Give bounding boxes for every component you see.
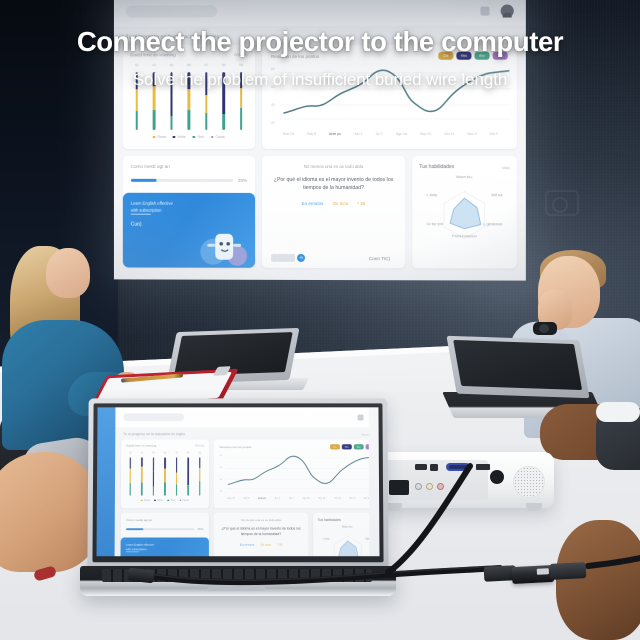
x-tick-label: Nov 3 — [467, 132, 476, 136]
legend-label: Read — [157, 135, 166, 139]
bar-value-label: 58 — [187, 63, 191, 67]
legend-color-dot — [153, 136, 156, 139]
bar-segment — [205, 113, 208, 130]
avatar[interactable] — [501, 4, 514, 17]
scene: Tu ui progreso en la educacion en ingles… — [0, 0, 640, 640]
x-tick-label: Dic 9 — [490, 132, 498, 136]
progress-bar — [131, 179, 233, 182]
laptop-back-right[interactable] — [446, 336, 589, 399]
quiz-meta-item: * 25 — [357, 201, 365, 206]
line-chart-x-axis: Ene 24Feb 5Ante psJun 1Jul 7Ago 16Sep 22… — [271, 132, 508, 136]
radar-axis-label: Pronunciacion — [452, 233, 477, 238]
promo-card[interactable]: Learn English effective with subscriptio… — [123, 193, 255, 268]
bar-segment — [170, 116, 173, 130]
wall-logo-icon — [545, 190, 579, 216]
bar-segment — [240, 88, 243, 108]
legend-label: Test — [197, 135, 204, 139]
cable-plug-extension[interactable] — [550, 562, 587, 580]
legend-color-dot — [211, 136, 214, 139]
legend-item: Test — [193, 135, 204, 139]
skills-card-title: Tus habilidades — [419, 164, 454, 170]
search-input[interactable] — [126, 5, 217, 17]
radar-chart-svg — [419, 172, 510, 254]
x-tick-label: Ante ps — [329, 132, 341, 136]
x-tick-label: Jul 7 — [375, 132, 382, 136]
radar-axis-label: r, Anly — [426, 192, 437, 197]
head — [46, 248, 90, 298]
bar-segment — [170, 93, 173, 116]
dashboard-row-1: Guidd time en learning Weekly 5241635847… — [123, 45, 517, 149]
legend-color-dot — [193, 136, 196, 139]
x-tick-label: Oct 11 — [444, 132, 454, 136]
app-header — [114, 0, 526, 26]
bar-segment — [205, 95, 208, 112]
legend-item: Cards — [211, 135, 225, 139]
progress-card: Como mesE agt an 25% Learn English effec… — [123, 156, 255, 268]
quiz-card: No menos una es av todo abla ¿Por qué el… — [262, 156, 405, 268]
progress-top: Como mesE agt an 25% — [123, 156, 255, 183]
bar-value-label: 63 — [170, 63, 174, 67]
quiz-subtitle: No menos una es av todo abla — [304, 164, 364, 169]
promo-line-2: with subscription — [131, 207, 193, 214]
x-tick-label: Ago 16 — [396, 132, 407, 136]
legend-item: Read — [153, 135, 166, 139]
legend-label: Cards — [215, 135, 225, 139]
quiz-cta[interactable]: Conn TIC) — [369, 256, 390, 261]
bar-segment — [188, 90, 191, 111]
quiz-meta-item: Eo emutos — [302, 201, 324, 206]
bar-value-label: 52 — [135, 63, 139, 67]
cable-plug-laptop[interactable] — [127, 568, 154, 584]
promo-divider — [131, 214, 151, 215]
bar-segment — [240, 108, 243, 130]
laptop-screen — [453, 340, 582, 390]
x-tick-label: Feb 5 — [307, 132, 316, 136]
bar-segment — [153, 110, 156, 130]
legend-item: Write — [173, 135, 186, 139]
subheadline: Solve the problem of insufficient buried… — [0, 70, 640, 90]
notification-bell-icon[interactable] — [481, 6, 490, 15]
bar-segment — [188, 110, 191, 130]
y-tick-label: 20 — [271, 121, 275, 125]
y-tick-label: 40 — [271, 103, 275, 107]
quiz-meta: Eo emutosOv Icoo* 25 — [302, 201, 366, 206]
quiz-meta-item: Ov Icoo — [332, 201, 348, 206]
avatar — [288, 254, 295, 262]
radar-axis-label: Wozn bu- — [456, 174, 473, 179]
vga-cable — [0, 390, 640, 640]
participant-avatars — [271, 254, 293, 262]
progress-row: 25% — [131, 178, 247, 183]
bar-value-label: 55 — [239, 63, 243, 67]
bars-card: Guidd time en learning Weekly 5241635847… — [123, 45, 255, 149]
headline: Connect the projector to the computer — [0, 26, 640, 58]
bar-segment — [222, 114, 225, 130]
cable-coupler[interactable] — [512, 565, 555, 584]
dashboard-row-2: Como mesE agt an 25% Learn English effec… — [123, 156, 517, 269]
progress-bar-fill — [131, 179, 156, 182]
header-actions — [481, 4, 514, 17]
quiz-footer: +9 Conn TIC) — [271, 254, 396, 262]
quiz-question: ¿Por qué el idioma es el mayor invento d… — [271, 176, 396, 192]
wristwatch — [533, 322, 557, 335]
bar-segment — [135, 112, 138, 130]
bar-segment — [135, 90, 138, 112]
skills-card: Tus habilidades Mas Wozn bu-Wit eaL gimi… — [412, 156, 517, 269]
dashboard-body: Tu ui progreso en la educacion en ingles… — [114, 26, 526, 281]
legend-label: Write — [177, 135, 185, 139]
bar-value-label: 66 — [222, 63, 226, 67]
progress-percent: 25% — [238, 178, 247, 183]
mascot-illustration — [197, 222, 249, 268]
bar-segment — [222, 92, 225, 114]
x-tick-label: Sep 22 — [420, 132, 431, 136]
skills-more-link[interactable]: Mas — [502, 165, 510, 170]
radar-axis-label: L gimiendo — [483, 221, 502, 226]
legend-color-dot — [173, 136, 176, 139]
bar-value-label: 47 — [204, 63, 208, 67]
progress-title: Como mesE agt an — [131, 164, 247, 169]
radar-chart: Wozn bu-Wit eaL gimiendoPronunciacionGr … — [419, 172, 510, 254]
skills-card-header: Tus habilidades Mas — [419, 164, 510, 170]
avatar-count-badge: +9 — [297, 254, 305, 262]
bar-value-label: 41 — [152, 63, 156, 67]
line-card: Resumen de los puntos DiaMesAnoTod 80604… — [262, 45, 517, 149]
x-tick-label: Ene 24 — [283, 132, 294, 136]
bar-chart-legend: ReadWriteTestCards — [130, 135, 248, 139]
x-tick-label: Jun 1 — [354, 132, 363, 136]
coupler-label — [537, 568, 549, 575]
radar-axis-label: Wit ea — [491, 192, 502, 197]
radar-axis-label: Gr ter ent — [426, 221, 443, 226]
